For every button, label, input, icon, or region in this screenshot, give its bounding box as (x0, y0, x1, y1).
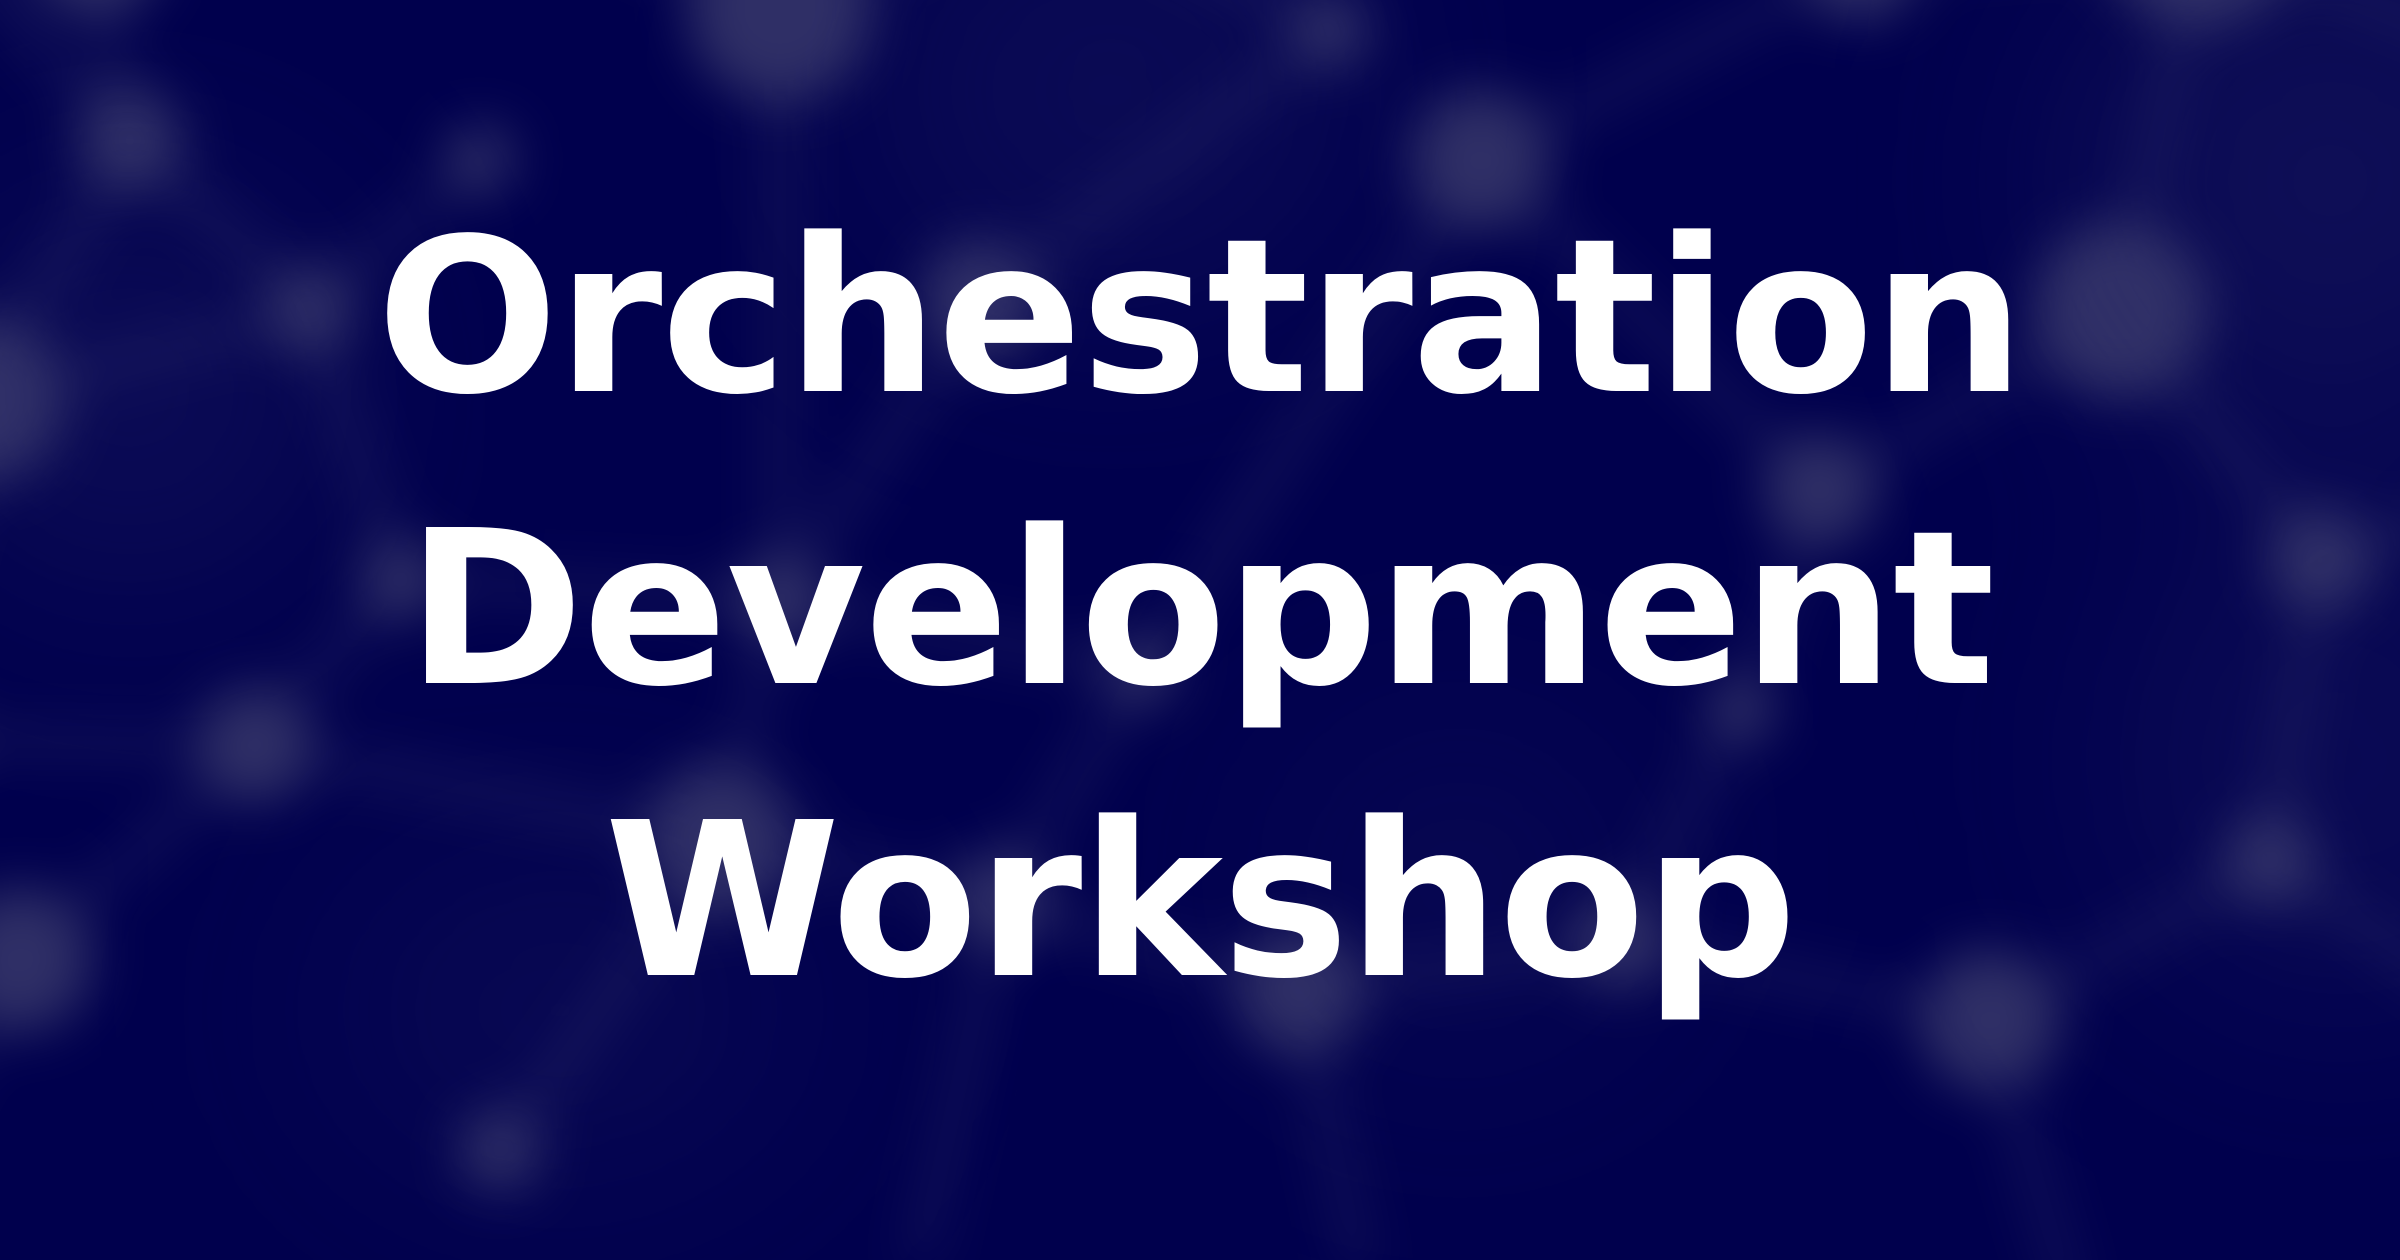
title-line-3: Workshop (60, 756, 2340, 1048)
title-line-2: Development (60, 464, 2340, 756)
slide-title-block: Orchestration Development Workshop (0, 172, 2400, 1048)
title-line-1: Orchestration (60, 172, 2340, 464)
title-slide: Orchestration Development Workshop (0, 0, 2400, 1260)
